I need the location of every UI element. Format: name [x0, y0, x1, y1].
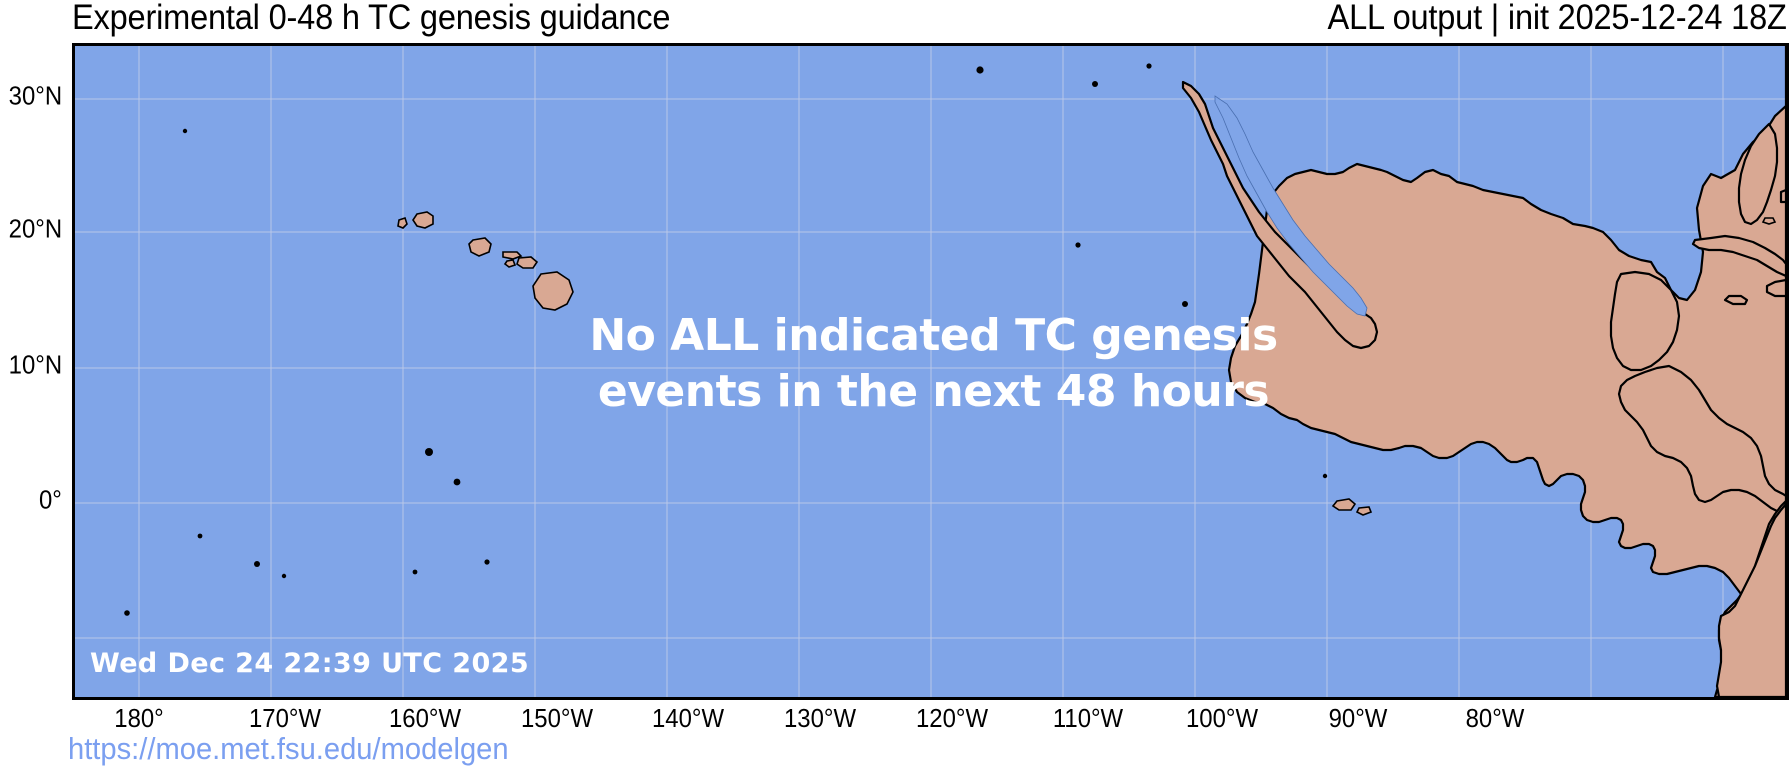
xtick-180: 180°	[114, 703, 163, 734]
clipperton-dot	[1323, 474, 1327, 478]
timestamp-label: Wed Dec 24 22:39 UTC 2025	[90, 648, 529, 679]
lanai-island	[505, 260, 515, 267]
xtick-100w: 100°W	[1186, 703, 1258, 734]
page-title: Experimental 0-48 h TC genesis guidance	[72, 0, 670, 38]
xtick-160w: 160°W	[389, 703, 461, 734]
maui-island	[517, 257, 537, 268]
islet-dot-13	[1146, 63, 1151, 68]
caribbean-islet-a	[1763, 218, 1775, 224]
header-subtitle: ALL output | init 2025-12-24 18Z	[1328, 0, 1787, 38]
header-bar: Experimental 0-48 h TC genesis guidance …	[0, 0, 1789, 40]
hawaii-big-island	[533, 272, 573, 310]
xtick-170w: 170°W	[249, 703, 321, 734]
xtick-80w: 80°W	[1466, 703, 1525, 734]
jamaica-island	[1725, 296, 1747, 304]
bahamas-islands	[1781, 190, 1786, 202]
xtick-110w: 110°W	[1053, 703, 1123, 734]
niihau-island	[398, 218, 407, 228]
map-canvas	[75, 46, 1786, 697]
xtick-90w: 90°W	[1329, 703, 1388, 734]
islet-dot-7	[282, 574, 286, 578]
islet-dot-6	[254, 561, 260, 567]
ytick-0: 0°	[39, 485, 62, 516]
galapagos-islands	[1333, 499, 1355, 510]
map-panel[interactable]: No ALL indicated TC genesis events in th…	[72, 43, 1789, 700]
xtick-120w: 120°W	[916, 703, 988, 734]
islet-dot-9	[484, 559, 489, 564]
islet-dot-8	[413, 570, 418, 575]
islet-dot-10	[124, 610, 130, 616]
north-america-mainland	[1229, 46, 1786, 606]
islet-dot-3	[425, 448, 433, 456]
landmass-north-america	[1183, 46, 1786, 606]
ytick-30n: 30°N	[9, 81, 62, 112]
xtick-150w: 150°W	[521, 703, 593, 734]
islet-dot-11	[976, 66, 983, 73]
kauai-island	[413, 212, 433, 228]
islet-dot-2	[1075, 242, 1080, 247]
oahu-island	[469, 238, 491, 256]
galapagos-islet-b	[1357, 507, 1371, 515]
islet-dot-12	[1092, 81, 1098, 87]
pacific-islets	[124, 63, 1371, 615]
islet-dot-1	[183, 129, 187, 133]
source-url-link[interactable]: https://moe.met.fsu.edu/modelgen	[68, 731, 509, 767]
hawaiian-islands	[398, 212, 573, 310]
ytick-10n: 10°N	[9, 350, 62, 381]
xtick-140w: 140°W	[652, 703, 724, 734]
islet-dot-5	[198, 534, 203, 539]
ytick-20n: 20°N	[9, 214, 62, 245]
islet-dot-4	[454, 479, 461, 486]
revillagigedo-dot	[1182, 301, 1188, 307]
xtick-130w: 130°W	[784, 703, 856, 734]
